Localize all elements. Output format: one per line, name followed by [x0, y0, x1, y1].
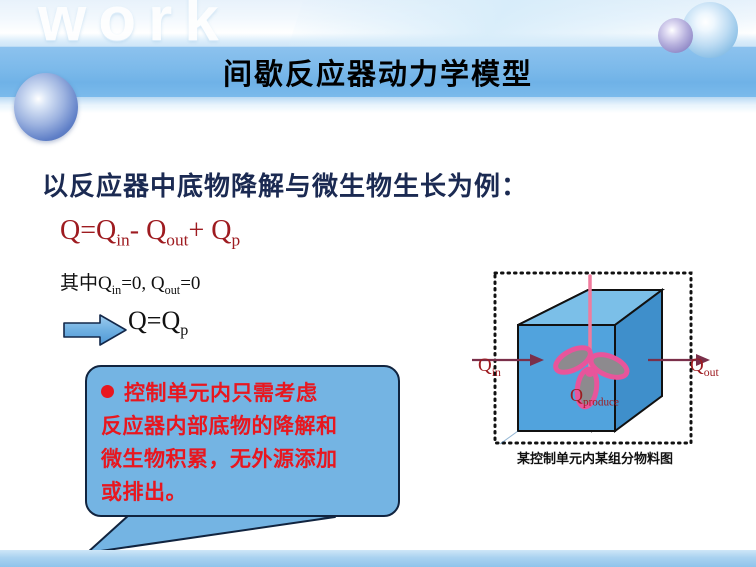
- formula-balance-sub-in: in: [116, 231, 130, 250]
- formula-result: Q=Qp: [128, 306, 188, 340]
- label-q-produce-sub: produce: [583, 397, 619, 409]
- right-block-arrow-icon: [62, 313, 128, 347]
- formula-condition-sub-in: in: [112, 283, 121, 297]
- formula-balance-sub-p: p: [232, 231, 241, 250]
- decorative-sphere-right-small: [658, 18, 693, 53]
- formula-balance: Q=Qin- Qout+ Qp: [60, 215, 240, 251]
- formula-condition: 其中Qin=0, Qout=0: [60, 268, 200, 298]
- formula-balance-lhs: Q=Q: [60, 215, 116, 246]
- diagram-caption: 某控制单元内某组分物料图: [470, 448, 720, 467]
- formula-result-lhs: Q=Q: [128, 306, 180, 335]
- callout-line-2: 反应器内部底物的降解和: [101, 414, 338, 438]
- label-q-in: Qin: [478, 355, 501, 380]
- callout-line-1: 控制单元内只需考虑: [124, 381, 318, 405]
- red-dot-bullet-icon: [101, 385, 114, 398]
- callout-text: 控制单元内只需考虑 反应器内部底物的降解和 微生物积累，无外源添加 或排出。: [101, 377, 391, 509]
- callout-bubble: 控制单元内只需考虑 反应器内部底物的降解和 微生物积累，无外源添加 或排出。: [85, 365, 400, 517]
- label-q-out-sub: out: [704, 366, 719, 379]
- title-banner-underline: [0, 97, 756, 106]
- label-q-out: Qout: [690, 355, 719, 380]
- formula-balance-op1: - Q: [130, 215, 167, 246]
- bottom-decoration-band: [0, 550, 756, 567]
- formula-result-sub: p: [180, 322, 188, 339]
- formula-balance-sub-out: out: [166, 231, 188, 250]
- formula-condition-sub-out: out: [165, 283, 181, 297]
- formula-condition-prefix: 其中Q: [60, 273, 112, 294]
- callout-line-3: 微生物积累，无外源添加: [101, 447, 338, 471]
- formula-condition-mid: =0, Q: [121, 273, 164, 294]
- section-heading: 以反应器中底物降解与微生物生长为例：: [42, 166, 528, 203]
- title-banner-underline-soft: [0, 106, 756, 113]
- cube-front-face-main: [518, 325, 615, 431]
- page-title: 间歇反应器动力学模型: [0, 46, 756, 97]
- label-q-in-base: Q: [478, 355, 492, 376]
- callout-line-4: 或排出。: [101, 480, 187, 504]
- label-q-in-sub: in: [492, 366, 501, 379]
- formula-balance-op2: + Q: [188, 215, 231, 246]
- decorative-sphere-left: [14, 73, 78, 141]
- slide-canvas: work 间歇反应器动力学模型 以反应器中底物降解与微生物生长为例： Q=Qin…: [0, 0, 756, 567]
- label-q-produce: Qproduce: [570, 385, 619, 409]
- label-q-out-base: Q: [690, 355, 704, 376]
- label-q-produce-base: Q: [570, 385, 583, 405]
- formula-condition-suffix: =0: [180, 273, 200, 294]
